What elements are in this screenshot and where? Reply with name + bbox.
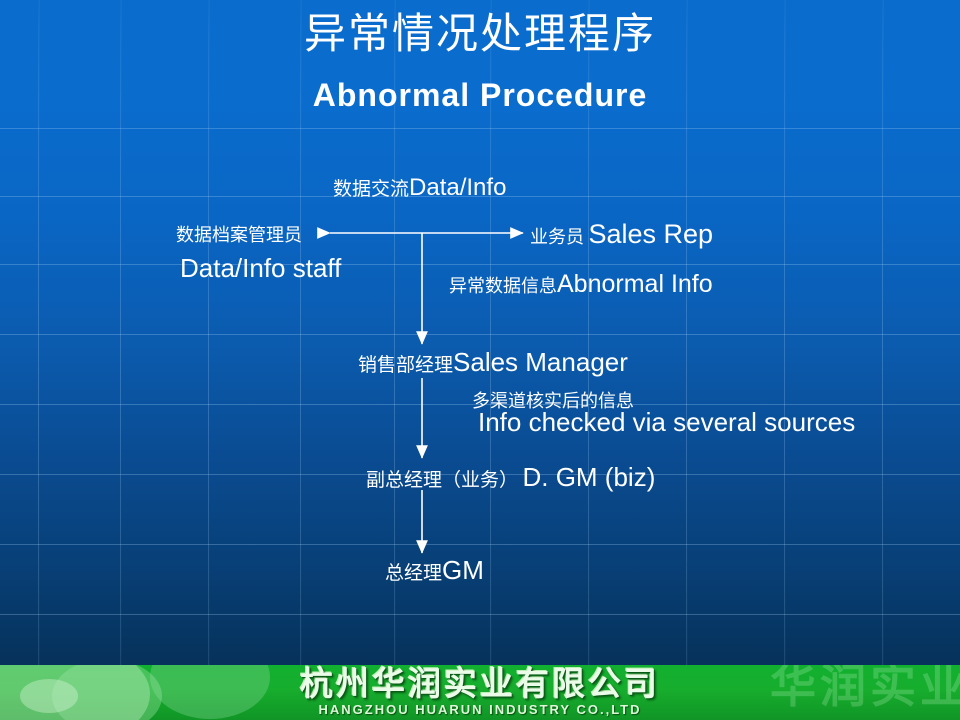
node-general-manager: 总经理GM [385, 555, 484, 586]
node-deputy-gm: 副总经理（业务） D. GM (biz) [366, 462, 655, 493]
edge-label-checked-info-en: Info checked via several sources [478, 407, 855, 438]
edge-label-abnormal-info-en: Abnormal Info [557, 270, 713, 298]
slide-title-chinese: 异常情况处理程序 [0, 8, 960, 60]
node-data-info-staff-en: Data/Info staff [180, 253, 341, 284]
slide-canvas: 异常情况处理程序 Abnormal Procedure 数据交流Data/Inf… [0, 0, 960, 720]
node-sales-rep-cn: 业务员 [530, 227, 584, 248]
node-sales-manager: 销售部经理Sales Manager [358, 347, 628, 378]
edge-label-data-info-cn: 数据交流 [333, 178, 409, 200]
footer-company-name-en: HANGZHOU HUARUN INDUSTRY CO.,LTD [0, 702, 960, 717]
node-deputy-gm-en: D. GM (biz) [522, 462, 655, 492]
edge-label-abnormal-info-cn: 异常数据信息 [449, 276, 557, 297]
slide-title-english: Abnormal Procedure [0, 74, 960, 116]
node-sales-rep-en: Sales Rep [588, 219, 713, 249]
footer-company-name-cn: 杭州华润实业有限公司 [0, 666, 960, 702]
edge-label-data-info: 数据交流Data/Info [333, 174, 506, 202]
node-sales-manager-cn: 销售部经理 [358, 354, 453, 376]
node-sales-rep: 业务员 Sales Rep [530, 219, 713, 250]
node-general-manager-en: GM [442, 555, 484, 585]
edge-label-abnormal-info: 异常数据信息Abnormal Info [449, 270, 713, 299]
edge-label-data-info-en: Data/Info [409, 174, 506, 201]
node-sales-manager-en: Sales Manager [453, 347, 628, 377]
node-general-manager-cn: 总经理 [385, 562, 442, 584]
footer-logo-banner: 华润实业 杭州华润实业有限公司 HANGZHOU HUARUN INDUSTRY… [0, 665, 960, 720]
node-deputy-gm-cn: 副总经理（业务） [366, 469, 518, 491]
node-data-info-staff-cn: 数据档案管理员 [176, 221, 302, 247]
